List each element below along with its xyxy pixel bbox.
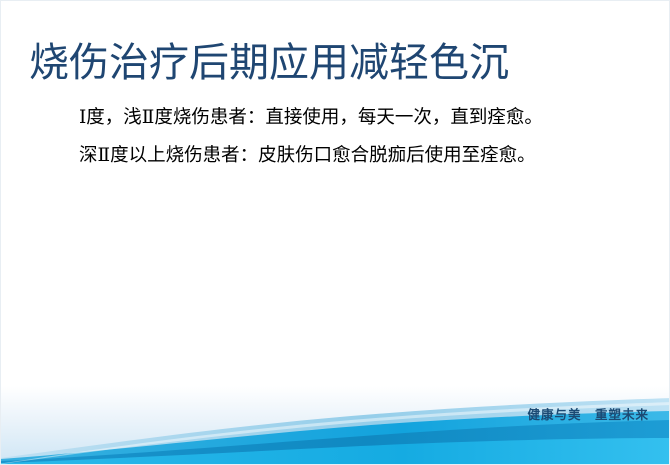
footer-wave-decoration: 健康与美 重塑未来 — [1, 386, 670, 464]
wave-graphic — [1, 386, 670, 464]
footer-tagline: 健康与美 重塑未来 — [527, 404, 649, 423]
slide-title: 烧伤治疗后期应用减轻色沉 — [29, 39, 643, 87]
body-paragraph: Ⅰ度，浅Ⅱ度烧伤患者：直接使用，每天一次，直到痊愈。 — [63, 103, 651, 133]
presentation-slide: 烧伤治疗后期应用减轻色沉 Ⅰ度，浅Ⅱ度烧伤患者：直接使用，每天一次，直到痊愈。 … — [0, 0, 670, 465]
slide-body: Ⅰ度，浅Ⅱ度烧伤患者：直接使用，每天一次，直到痊愈。 深Ⅱ度以上烧伤患者：皮肤伤… — [63, 103, 651, 179]
body-paragraph: 深Ⅱ度以上烧伤患者：皮肤伤口愈合脱痂后使用至痊愈。 — [63, 141, 651, 171]
